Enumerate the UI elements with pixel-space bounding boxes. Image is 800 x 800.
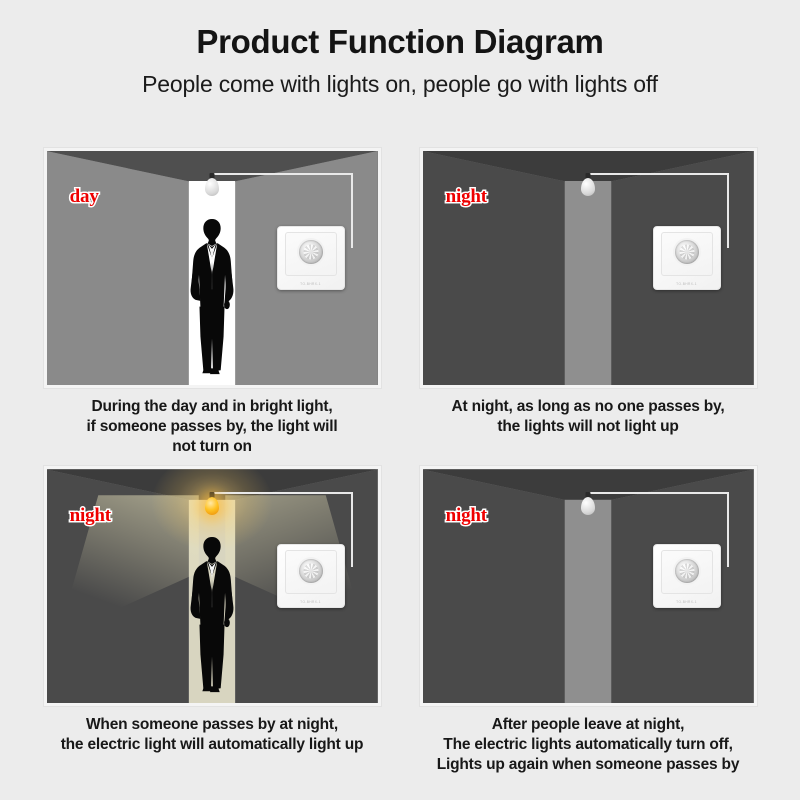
ceiling-wire-vertical xyxy=(727,173,729,248)
time-of-day-badge-night: night xyxy=(446,186,487,208)
corridor-back-wall xyxy=(565,181,611,385)
caption-line: if someone passes by, the light will xyxy=(87,417,338,437)
switch-inner-plate xyxy=(661,232,713,276)
panel-caption: During the day and in bright light,if so… xyxy=(87,397,338,456)
ceiling-wire-vertical xyxy=(351,173,353,248)
caption-line: the lights will not light up xyxy=(452,417,725,437)
switch-brand-label: TO-BHRX-1 xyxy=(278,282,344,286)
switch-inner-plate xyxy=(285,232,337,276)
ceiling-wire-horizontal xyxy=(588,173,727,175)
switch-inner-plate xyxy=(285,550,337,594)
scene-frame: TO-BHRX-1 xyxy=(44,466,381,706)
person-silhouette xyxy=(183,535,241,694)
panel-night-empty: TO-BHRX-1 night At night, as long as no … xyxy=(404,148,772,456)
caption-line: Lights up again when someone passes by xyxy=(437,755,739,775)
sensor-dome-icon xyxy=(675,559,699,583)
panel-night-after-leave: TO-BHRX-1 night After people leave at ni… xyxy=(404,466,772,774)
corridor-scene: TO-BHRX-1 night xyxy=(423,151,754,385)
header: Product Function Diagram People come wit… xyxy=(0,0,800,98)
corridor-scene: TO-BHRX-1 xyxy=(47,151,378,385)
switch-brand-label: TO-BHRX-1 xyxy=(654,282,720,286)
sensor-dome-icon xyxy=(299,240,323,264)
panel-caption: When someone passes by at night,the elec… xyxy=(61,715,364,755)
caption-line: At night, as long as no one passes by, xyxy=(452,397,725,417)
ceiling-wire-horizontal xyxy=(212,173,351,175)
scene-frame: TO-BHRX-1 night xyxy=(420,466,757,706)
switch-inner-plate xyxy=(661,550,713,594)
panel-caption: After people leave at night,The electric… xyxy=(437,715,739,774)
panel-caption: At night, as long as no one passes by,th… xyxy=(452,397,725,437)
ceiling-wire-vertical xyxy=(351,492,353,567)
light-bulb-off-icon xyxy=(580,173,596,199)
light-bulb-off-icon xyxy=(580,492,596,518)
caption-line: The electric lights automatically turn o… xyxy=(437,735,739,755)
caption-line: When someone passes by at night, xyxy=(61,715,364,735)
time-of-day-badge-day: day xyxy=(70,186,99,208)
light-bulb-off-icon xyxy=(204,173,220,199)
ceiling-wire-vertical xyxy=(727,492,729,567)
bulb-glass xyxy=(581,178,595,196)
caption-line: During the day and in bright light, xyxy=(87,397,338,417)
sensor-dome-icon xyxy=(675,240,699,264)
bulb-glass xyxy=(205,178,219,196)
scene-frame: TO-BHRX-1 night xyxy=(420,148,757,388)
corridor-scene: TO-BHRX-1 xyxy=(47,469,378,703)
caption-line: the electric light will automatically li… xyxy=(61,735,364,755)
bulb-glass xyxy=(205,497,219,515)
motion-sensor-switch[interactable]: TO-BHRX-1 xyxy=(653,226,721,290)
caption-line: not turn on xyxy=(87,437,338,457)
light-bulb-on-icon xyxy=(204,492,220,518)
panel-night-lit: TO-BHRX-1 xyxy=(28,466,396,774)
panel-day-no-light: TO-BHRX-1 xyxy=(28,148,396,456)
corridor-back-wall xyxy=(565,500,611,704)
time-of-day-badge-night: night xyxy=(446,505,487,527)
ceiling-wire-horizontal xyxy=(588,492,727,494)
bulb-glass xyxy=(581,497,595,515)
motion-sensor-switch[interactable]: TO-BHRX-1 xyxy=(653,544,721,608)
switch-brand-label: TO-BHRX-1 xyxy=(654,600,720,604)
sensor-dome-icon xyxy=(299,559,323,583)
scene-frame: TO-BHRX-1 xyxy=(44,148,381,388)
time-of-day-badge-night: night xyxy=(70,505,111,527)
person-silhouette xyxy=(183,217,241,376)
caption-line: After people leave at night, xyxy=(437,715,739,735)
product-function-diagram-page: Product Function Diagram People come wit… xyxy=(0,0,800,800)
ceiling-wire-horizontal xyxy=(212,492,351,494)
motion-sensor-switch[interactable]: TO-BHRX-1 xyxy=(277,226,345,290)
panel-grid: TO-BHRX-1 xyxy=(0,148,800,775)
page-title: Product Function Diagram xyxy=(0,24,800,60)
switch-brand-label: TO-BHRX-1 xyxy=(278,600,344,604)
corridor-scene: TO-BHRX-1 night xyxy=(423,469,754,703)
motion-sensor-switch[interactable]: TO-BHRX-1 xyxy=(277,544,345,608)
page-subtitle: People come with lights on, people go wi… xyxy=(0,72,800,97)
